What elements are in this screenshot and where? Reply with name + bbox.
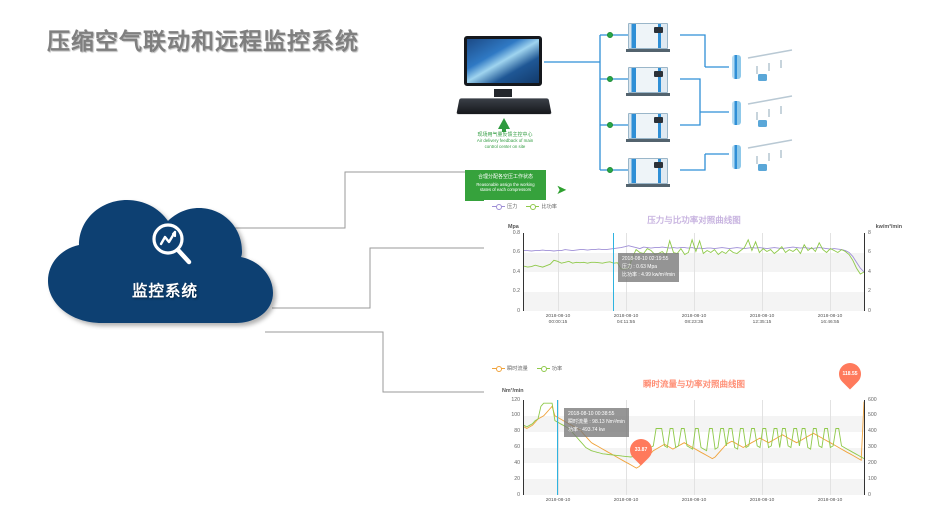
y2-tick: 0 [868, 308, 871, 314]
system-schematic: 现场用气量反馈主控中心 Air delivery feedback of mai… [432, 22, 945, 197]
y2-tick: 400 [868, 428, 877, 434]
series-line-比功率 [524, 240, 864, 274]
cursor-line[interactable] [613, 233, 614, 311]
y2-tick: 300 [868, 444, 877, 450]
status-dot-1 [607, 32, 613, 38]
slide-root: 压缩空气联动和远程监控系统 监控系统 [0, 0, 945, 529]
compressor-2-base [626, 93, 670, 96]
y-tick: 20 [502, 476, 520, 482]
tooltip-row1: 瞬时流量 : 98.13 Nm³/min [568, 419, 625, 427]
air-tank-1 [732, 55, 741, 79]
x-tick: 2018-08-1016:46:55 [804, 314, 856, 326]
x-tick-date: 2018-08-10 [682, 314, 707, 319]
y2-tick: 100 [868, 476, 877, 482]
x-tick-date: 2018-08-10 [750, 498, 775, 503]
axis-line-right [864, 400, 865, 495]
y-tick: 0 [502, 492, 520, 498]
flow-power-chart[interactable]: 瞬时流量功率 瞬时流量与功率对照曲线图 Nm³/min 120100806040… [484, 362, 904, 529]
y-tick: 80 [502, 428, 520, 434]
x-tick: 2018-08-1004:11:55 [600, 314, 652, 326]
compressor-3 [628, 113, 668, 139]
y2-tick: 6 [868, 249, 871, 255]
x-tick-date: 2018-08-10 [546, 498, 571, 503]
y2-tick: 500 [868, 412, 877, 418]
series-layer [524, 233, 864, 311]
air-tank-3 [732, 145, 741, 169]
y2-tick: 8 [868, 230, 871, 236]
status-dot-3 [607, 122, 613, 128]
x-tick-time: 12:35:15 [753, 320, 772, 325]
x-tick: 2018-08-10 [804, 498, 856, 504]
compressor-2 [628, 67, 668, 93]
pressure-power-chart[interactable]: 压力比功率 压力与比功率对照曲线图 Mpa kw/m³/min 0.80.60.… [484, 200, 904, 335]
x-tick-date: 2018-08-10 [682, 498, 707, 503]
y-tick: 0.8 [502, 230, 520, 236]
x-tick-date: 2018-08-10 [614, 498, 639, 503]
x-tick-date: 2018-08-10 [750, 314, 775, 319]
marker-value: 118.55 [839, 363, 861, 385]
series-line-压力 [524, 246, 864, 272]
y-tick: 60 [502, 444, 520, 450]
air-tank-2 [732, 101, 741, 125]
compressor-3-base [626, 139, 670, 142]
y-tick: 0.2 [502, 288, 520, 294]
axis-line-right [864, 233, 865, 311]
x-tick: 2018-08-10 [600, 498, 652, 504]
tooltip-time: 2018-08-10 02:19:55 [622, 256, 675, 264]
chart-tooltip: 2018-08-10 00:38:55瞬时流量 : 98.13 Nm³/min功… [564, 408, 629, 437]
chart2-plot: 12010080604020060050040030020010002018-0… [484, 362, 904, 529]
cursor-line[interactable] [557, 400, 558, 495]
schematic-wiring [432, 22, 945, 197]
x-tick-date: 2018-08-10 [818, 314, 843, 319]
x-tick: 2018-08-10 [736, 498, 788, 504]
x-tick-time: 04:11:55 [617, 320, 635, 325]
x-tick-date: 2018-08-10 [818, 498, 843, 503]
magnifier-chart-icon [148, 221, 196, 274]
status-dot-2 [607, 76, 613, 82]
y-tick: 120 [502, 397, 520, 403]
compressor-4 [628, 158, 668, 184]
compressor-1-base [626, 49, 670, 52]
x-tick-date: 2018-08-10 [546, 314, 571, 319]
marker-value: 33.87 [630, 439, 652, 461]
status-dot-4 [607, 167, 613, 173]
compressor-4-base [626, 184, 670, 187]
compressor-1 [628, 23, 668, 49]
y2-tick: 4 [868, 269, 871, 275]
x-tick: 2018-08-10 [532, 498, 584, 504]
y-tick: 40 [502, 460, 520, 466]
x-tick: 2018-08-1012:35:15 [736, 314, 788, 326]
cloud-label: 监控系统 [40, 279, 290, 301]
y2-tick: 200 [868, 460, 877, 466]
y-tick: 0.4 [502, 269, 520, 275]
chart1-plot: 0.80.60.40.20864202018-08-1000:00:152018… [484, 200, 904, 335]
monitoring-cloud[interactable]: 监控系统 [40, 195, 290, 330]
tooltip-time: 2018-08-10 00:38:55 [568, 411, 625, 419]
x-tick: 2018-08-1000:00:15 [532, 314, 584, 326]
y2-tick: 2 [868, 288, 871, 294]
x-tick-time: 08:23:35 [685, 320, 704, 325]
chart-marker-0[interactable]: 33.87 [625, 434, 656, 465]
x-tick-time: 00:00:15 [549, 320, 568, 325]
x-tick-date: 2018-08-10 [614, 314, 639, 319]
y-tick: 0.6 [502, 249, 520, 255]
y2-tick: 600 [868, 397, 877, 403]
x-tick: 2018-08-1008:23:35 [668, 314, 720, 326]
tooltip-row2: 比功率 : 4.99 kw/m³/min [622, 272, 675, 280]
page-title: 压缩空气联动和远程监控系统 [47, 22, 359, 56]
chart-tooltip: 2018-08-10 02:19:55压力 : 0.63 Mpa比功率 : 4.… [618, 253, 679, 282]
x-tick-time: 16:46:55 [821, 320, 840, 325]
chart-marker-1[interactable]: 118.55 [834, 358, 865, 389]
y-tick: 0 [502, 308, 520, 314]
x-tick: 2018-08-10 [668, 498, 720, 504]
tooltip-row1: 压力 : 0.63 Mpa [622, 264, 675, 272]
y-tick: 100 [502, 412, 520, 418]
y2-tick: 0 [868, 492, 871, 498]
tooltip-row2: 功率 : 493.74 kw [568, 427, 625, 435]
